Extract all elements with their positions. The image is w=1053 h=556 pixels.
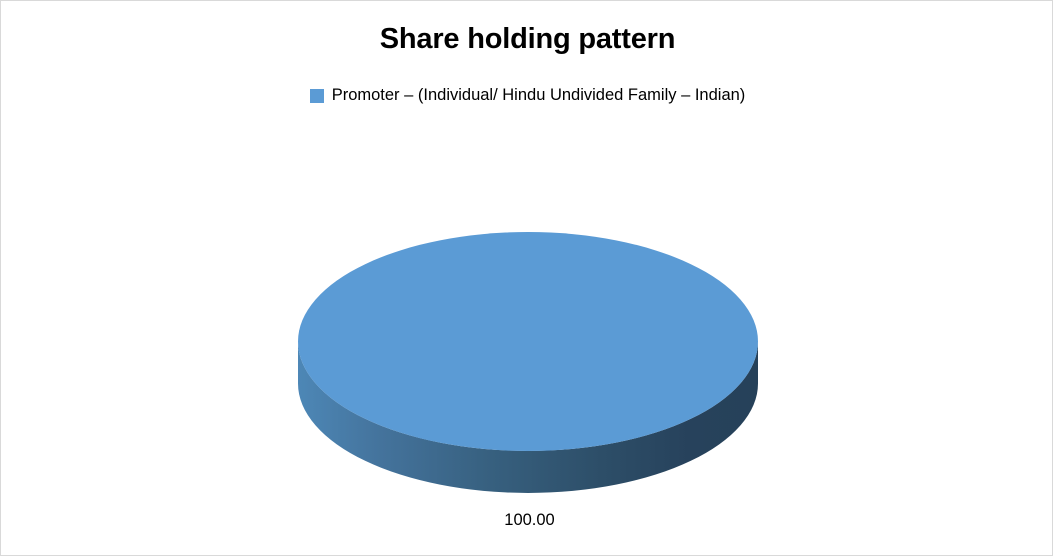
data-label-wrapper: 100.00 <box>1 510 1053 530</box>
pie-slice-promoter[interactable] <box>298 232 758 493</box>
chart-legend: Promoter – (Individual/ Hindu Undivided … <box>1 85 1053 105</box>
chart-title: Share holding pattern <box>1 21 1053 57</box>
data-label-value: 100.00 <box>504 510 554 530</box>
chart-container: Share holding pattern Promoter – (Indivi… <box>0 0 1053 556</box>
legend-item-promoter[interactable]: Promoter – (Individual/ Hindu Undivided … <box>310 85 746 105</box>
legend-color-swatch-icon <box>310 89 324 103</box>
pie-slice-top-face <box>298 232 758 451</box>
pie-chart-3d <box>298 232 758 493</box>
legend-item-label: Promoter – (Individual/ Hindu Undivided … <box>332 85 746 105</box>
